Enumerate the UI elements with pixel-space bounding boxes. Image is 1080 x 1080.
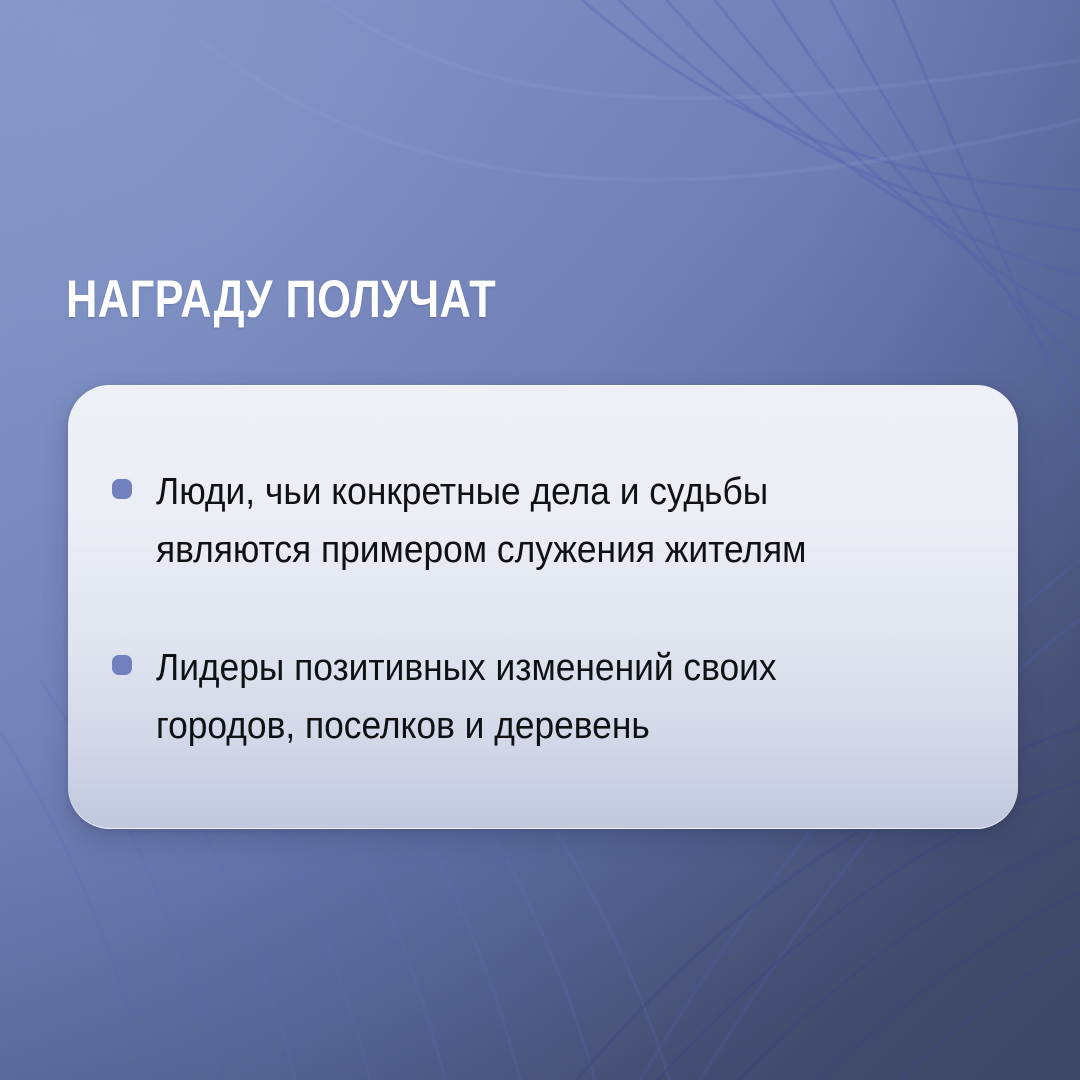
list-item: Люди, чьи конкретные дела и судьбы являю… <box>112 463 956 579</box>
promo-slide: НАГРАДУ ПОЛУЧАТ Люди, чьи конкретные дел… <box>0 0 1080 1080</box>
criteria-card: Люди, чьи конкретные дела и судьбы являю… <box>68 385 1018 829</box>
list-item: Лидеры позитивных изменений своих городо… <box>112 639 956 755</box>
list-item-label: Люди, чьи конкретные дела и судьбы являю… <box>156 463 891 579</box>
bullet-dot-icon <box>112 655 132 675</box>
list-item-label: Лидеры позитивных изменений своих городо… <box>156 639 891 755</box>
bullet-dot-icon <box>112 479 132 499</box>
page-title: НАГРАДУ ПОЛУЧАТ <box>66 272 496 328</box>
